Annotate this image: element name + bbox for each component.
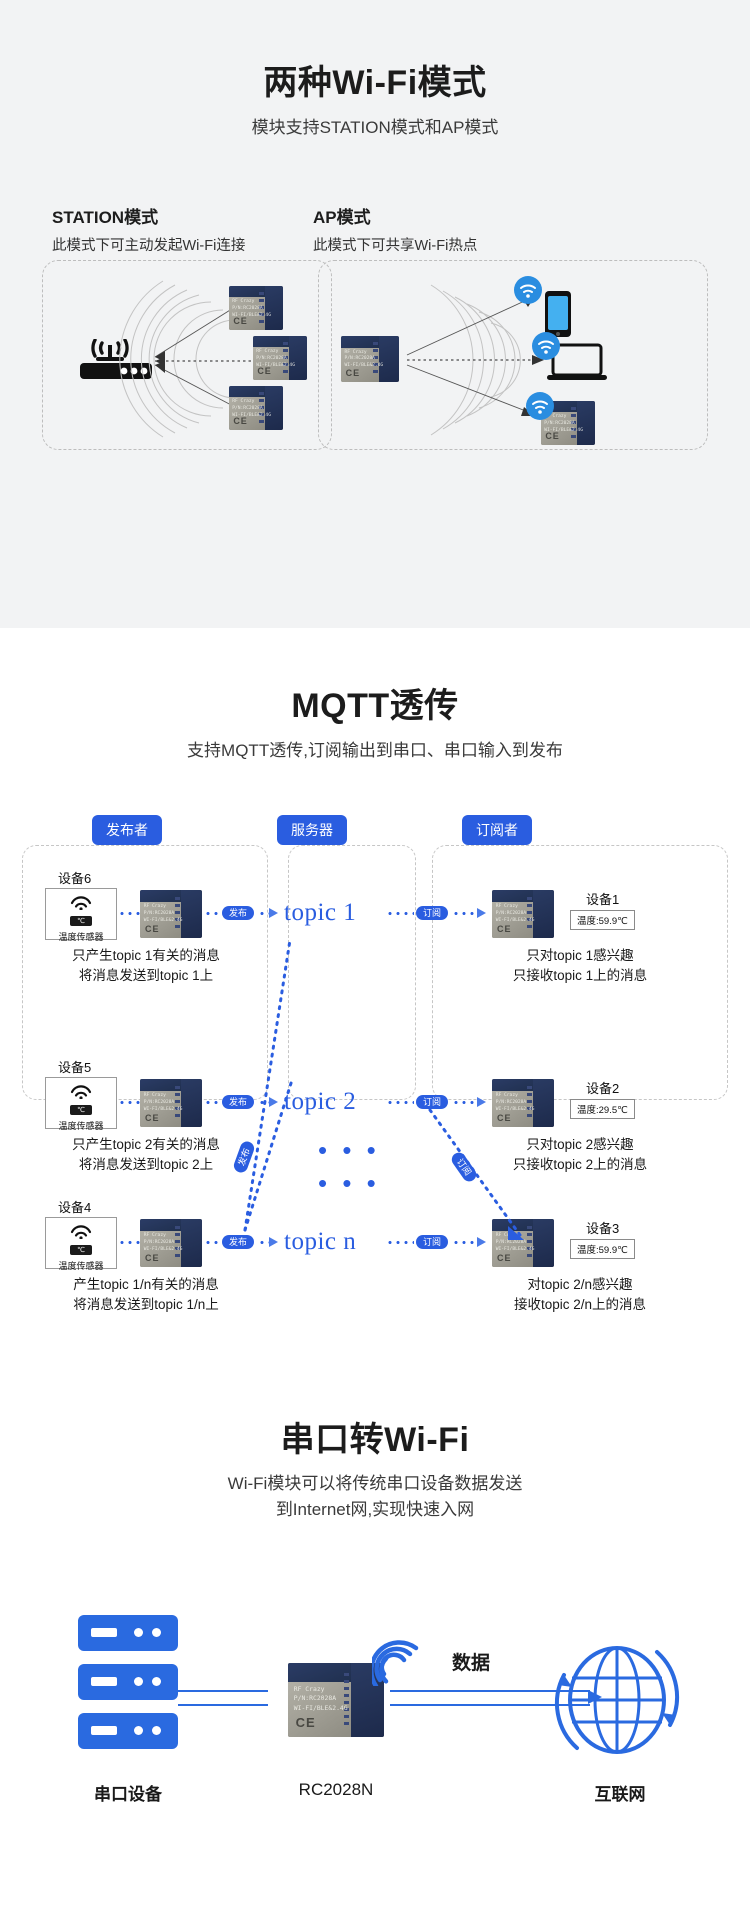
data-flow-dots xyxy=(452,912,478,915)
flow-arrow-icon xyxy=(269,1237,278,1247)
subscriber-desc-line2: 只接收topic 2上的消息 xyxy=(440,1155,720,1175)
sensor-unit: ℃ xyxy=(70,916,92,926)
subscriber-desc-line1: 只对topic 2感兴趣 xyxy=(440,1135,720,1155)
subscriber-device-name: 设备2 xyxy=(586,1078,619,1097)
badge-server: 服务器 xyxy=(277,815,347,845)
ap-mode-subtitle: 此模式下可共享Wi-Fi热点 xyxy=(313,234,477,255)
data-flow-dots xyxy=(386,1241,414,1244)
rc2028n-module-chip: RF CrazyP/N:RC2028AWI-FI/BLE&2.4G CE xyxy=(288,1663,384,1737)
data-line xyxy=(178,1704,268,1706)
temperature-sensor-icon: ℃ 温度传感器 xyxy=(45,888,117,940)
uart-subtitle-line1: Wi-Fi模块可以将传统串口设备数据发送 xyxy=(0,1470,750,1497)
subscriber-device-name: 设备1 xyxy=(586,889,619,908)
data-flow-dots xyxy=(204,1101,222,1104)
publisher-desc-line2: 将消息发送到topic 1/n上 xyxy=(30,1295,262,1315)
publisher-desc-line1: 产生topic 1/n有关的消息 xyxy=(30,1275,262,1295)
temperature-sensor-icon: ℃ 温度传感器 xyxy=(45,1217,117,1269)
chip-print-text: RF CrazyP/N:RC2028AWI-FI/BLE&2.4G xyxy=(144,1233,183,1253)
subscriber-temperature: 温度:29.5℃ xyxy=(570,1099,635,1119)
data-flow-dots xyxy=(118,1241,140,1244)
uart-title: 串口转Wi-Fi xyxy=(0,1412,750,1461)
chip-print-text: RF CrazyP/N:RC2028AWI-FI/BLE&2.4G xyxy=(144,1093,183,1113)
wifi-badge-icon xyxy=(525,391,555,426)
wifi-module-chip: RF CrazyP/N:RC2028AWI-FI/BLE&2.4G CE xyxy=(229,286,283,330)
publisher-device-name: 设备5 xyxy=(58,1057,91,1076)
publisher-device-name: 设备4 xyxy=(58,1197,91,1216)
data-flow-dots xyxy=(452,1241,478,1244)
wifi-module-chip: RF CrazyP/N:RC2028AWI-FI/BLE&2.4G CE xyxy=(140,1079,202,1127)
chip-print-text: RF CrazyP/N:RC2028AWI-FI/BLE&2.4G xyxy=(496,1233,535,1253)
topic-label: topic n xyxy=(284,1228,356,1256)
serial-device-icon xyxy=(78,1615,178,1749)
page-subtitle: 模块支持STATION模式和AP模式 xyxy=(0,113,750,138)
data-flow-dots xyxy=(118,912,140,915)
publisher-desc-line2: 将消息发送到topic 1上 xyxy=(30,966,262,986)
data-label: 数据 xyxy=(452,1648,490,1675)
chip-print-text: RF CrazyP/N:RC2028AWI-FI/BLE&2.4G xyxy=(496,1093,535,1113)
sensor-unit: ℃ xyxy=(70,1105,92,1115)
subscribe-pill: 订阅 xyxy=(416,1235,448,1249)
sensor-label: 温度传感器 xyxy=(46,1259,116,1272)
ap-mode-heading: AP模式 此模式下可共享Wi-Fi热点 xyxy=(313,203,477,255)
data-flow-dots xyxy=(204,912,222,915)
wifi-badge-icon xyxy=(513,275,543,310)
flow-arrow-icon xyxy=(269,1097,278,1107)
internet-globe-icon xyxy=(545,1630,695,1770)
station-mode-diagram: RF CrazyP/N:RC2028AWI-FI/BLE&2.4G CE RF … xyxy=(42,260,332,450)
chip-print-text: RF CrazyP/N:RC2028AWI-FI/BLE&2.4G xyxy=(294,1685,348,1713)
subscribe-pill: 订阅 xyxy=(416,1095,448,1109)
flow-arrow-icon xyxy=(477,1237,486,1247)
subscriber-desc-line1: 只对topic 1感兴趣 xyxy=(440,946,720,966)
badge-publisher: 发布者 xyxy=(92,815,162,845)
publish-pill: 发布 xyxy=(222,1095,254,1109)
subscriber-device-name: 设备3 xyxy=(586,1218,619,1237)
ap-mode-diagram: RF CrazyP/N:RC2028AWI-FI/BLE&2.4G CE xyxy=(318,260,708,450)
station-mode-subtitle: 此模式下可主动发起Wi-Fi连接 xyxy=(52,234,245,255)
publish-pill: 发布 xyxy=(222,1235,254,1249)
flow-arrow-icon xyxy=(477,908,486,918)
subscribe-pill: 订阅 xyxy=(416,906,448,920)
publisher-device-name: 设备6 xyxy=(58,868,91,887)
data-flow-dots xyxy=(118,1101,140,1104)
wifi-wave-icon xyxy=(372,1630,432,1686)
publisher-desc-line1: 只产生topic 2有关的消息 xyxy=(30,1135,262,1155)
publisher-desc-line1: 只产生topic 1有关的消息 xyxy=(30,946,262,966)
data-flow-dots xyxy=(386,912,414,915)
data-line xyxy=(178,1690,268,1692)
publish-pill: 发布 xyxy=(222,906,254,920)
station-mode-title: STATION模式 xyxy=(52,203,245,228)
topic-ellipsis: • • • xyxy=(318,1135,380,1166)
subscriber-temperature: 温度:59.9℃ xyxy=(570,1239,635,1259)
uart-subtitle-line2: 到Internet网,实现快速入网 xyxy=(0,1496,750,1523)
mqtt-subtitle: 支持MQTT透传,订阅输出到串口、串口输入到发布 xyxy=(0,736,750,761)
wifi-module-chip: RF CrazyP/N:RC2028AWI-FI/BLE&2.4G CE xyxy=(492,1219,554,1267)
topic-label: topic 2 xyxy=(284,1088,356,1116)
topic-label: topic 1 xyxy=(284,899,356,927)
chip-print-text: RF CrazyP/N:RC2028AWI-FI/BLE&2.4G xyxy=(496,904,535,924)
flow-arrow-icon xyxy=(477,1097,486,1107)
wifi-module-chip: RF CrazyP/N:RC2028AWI-FI/BLE&2.4G CE xyxy=(492,1079,554,1127)
ap-mode-title: AP模式 xyxy=(313,203,477,228)
caption-module: RC2028N xyxy=(266,1780,406,1800)
wifi-badge-icon xyxy=(531,331,561,366)
temperature-sensor-icon: ℃ 温度传感器 xyxy=(45,1077,117,1129)
topic-ellipsis: • • • xyxy=(318,1168,380,1199)
subscriber-temperature: 温度:59.9℃ xyxy=(570,910,635,930)
badge-subscriber: 订阅者 xyxy=(462,815,532,845)
flow-arrow-icon xyxy=(269,908,278,918)
station-mode-heading: STATION模式 此模式下可主动发起Wi-Fi连接 xyxy=(52,203,245,255)
wifi-modes-section: 两种Wi-Fi模式 模块支持STATION模式和AP模式 STATION模式 此… xyxy=(0,0,750,628)
subscriber-desc-line1: 对topic 2/n感兴趣 xyxy=(440,1275,720,1295)
wifi-module-chip: RF CrazyP/N:RC2028AWI-FI/BLE&2.4G CE xyxy=(492,890,554,938)
wifi-module-chip: RF CrazyP/N:RC2028AWI-FI/BLE&2.4G CE xyxy=(253,336,307,380)
page-title: 两种Wi-Fi模式 xyxy=(0,55,750,104)
data-flow-dots xyxy=(386,1101,414,1104)
publisher-desc-line2: 将消息发送到topic 2上 xyxy=(30,1155,262,1175)
uart-wifi-section: 串口转Wi-Fi Wi-Fi模块可以将传统串口设备数据发送 到Internet网… xyxy=(0,1340,750,1931)
caption-internet: 互联网 xyxy=(550,1780,690,1805)
data-flow-dots xyxy=(452,1101,478,1104)
subscriber-desc-line2: 只接收topic 1上的消息 xyxy=(440,966,720,986)
sensor-label: 温度传感器 xyxy=(46,930,116,943)
wifi-module-chip: RF CrazyP/N:RC2028AWI-FI/BLE&2.4G CE xyxy=(140,890,202,938)
server-panel xyxy=(288,845,416,1100)
caption-serial-device: 串口设备 xyxy=(58,1780,198,1805)
sensor-label: 温度传感器 xyxy=(46,1119,116,1132)
mqtt-title: MQTT透传 xyxy=(0,678,750,727)
chip-print-text: RF CrazyP/N:RC2028AWI-FI/BLE&2.4G xyxy=(144,904,183,924)
sensor-unit: ℃ xyxy=(70,1245,92,1255)
subscriber-desc-line2: 接收topic 2/n上的消息 xyxy=(440,1295,720,1315)
data-flow-dots xyxy=(204,1241,222,1244)
wifi-module-chip: RF CrazyP/N:RC2028AWI-FI/BLE&2.4G CE xyxy=(229,386,283,430)
wifi-module-chip: RF CrazyP/N:RC2028AWI-FI/BLE&2.4G CE xyxy=(140,1219,202,1267)
